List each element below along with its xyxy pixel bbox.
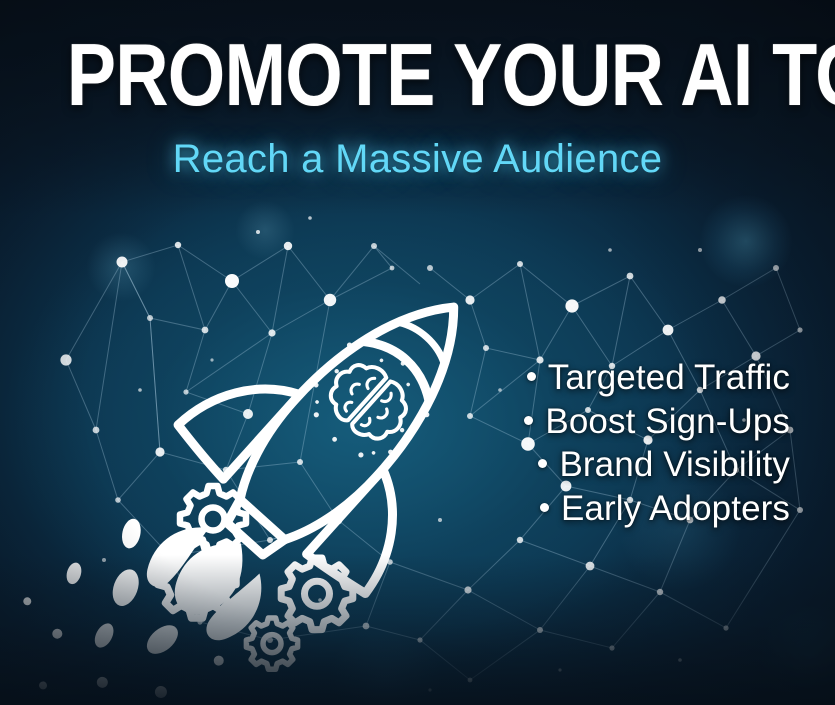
- benefit-label: Targeted Traffic: [548, 358, 790, 397]
- list-item: Brand Visibility: [524, 443, 790, 487]
- gear-icon-3: [281, 558, 353, 630]
- benefit-label: Early Adopters: [561, 489, 790, 528]
- list-item: Early Adopters: [524, 487, 790, 531]
- bullet-dot-icon: [540, 503, 549, 512]
- brain-sparkles: [292, 325, 444, 477]
- gear-icon-4: [246, 618, 297, 669]
- bullet-dot-icon: [527, 372, 536, 381]
- rocket-fin-left: [171, 348, 299, 480]
- list-item: Targeted Traffic: [524, 356, 790, 400]
- promo-poster: PROMOTE YOUR AI TOOL Reach a Massive Aud…: [0, 0, 835, 705]
- bullet-dot-icon: [538, 459, 547, 468]
- benefits-list: Targeted Traffic Boost Sign-Ups Brand Vi…: [524, 356, 790, 530]
- page-title: PROMOTE YOUR AI TOOL: [67, 33, 768, 117]
- page-subtitle: Reach a Massive Audience: [0, 136, 835, 182]
- benefit-label: Brand Visibility: [559, 445, 790, 484]
- benefit-label: Boost Sign-Ups: [545, 402, 790, 441]
- list-item: Boost Sign-Ups: [524, 400, 790, 444]
- rocket-body: [221, 270, 496, 557]
- bullet-dot-icon: [524, 416, 533, 425]
